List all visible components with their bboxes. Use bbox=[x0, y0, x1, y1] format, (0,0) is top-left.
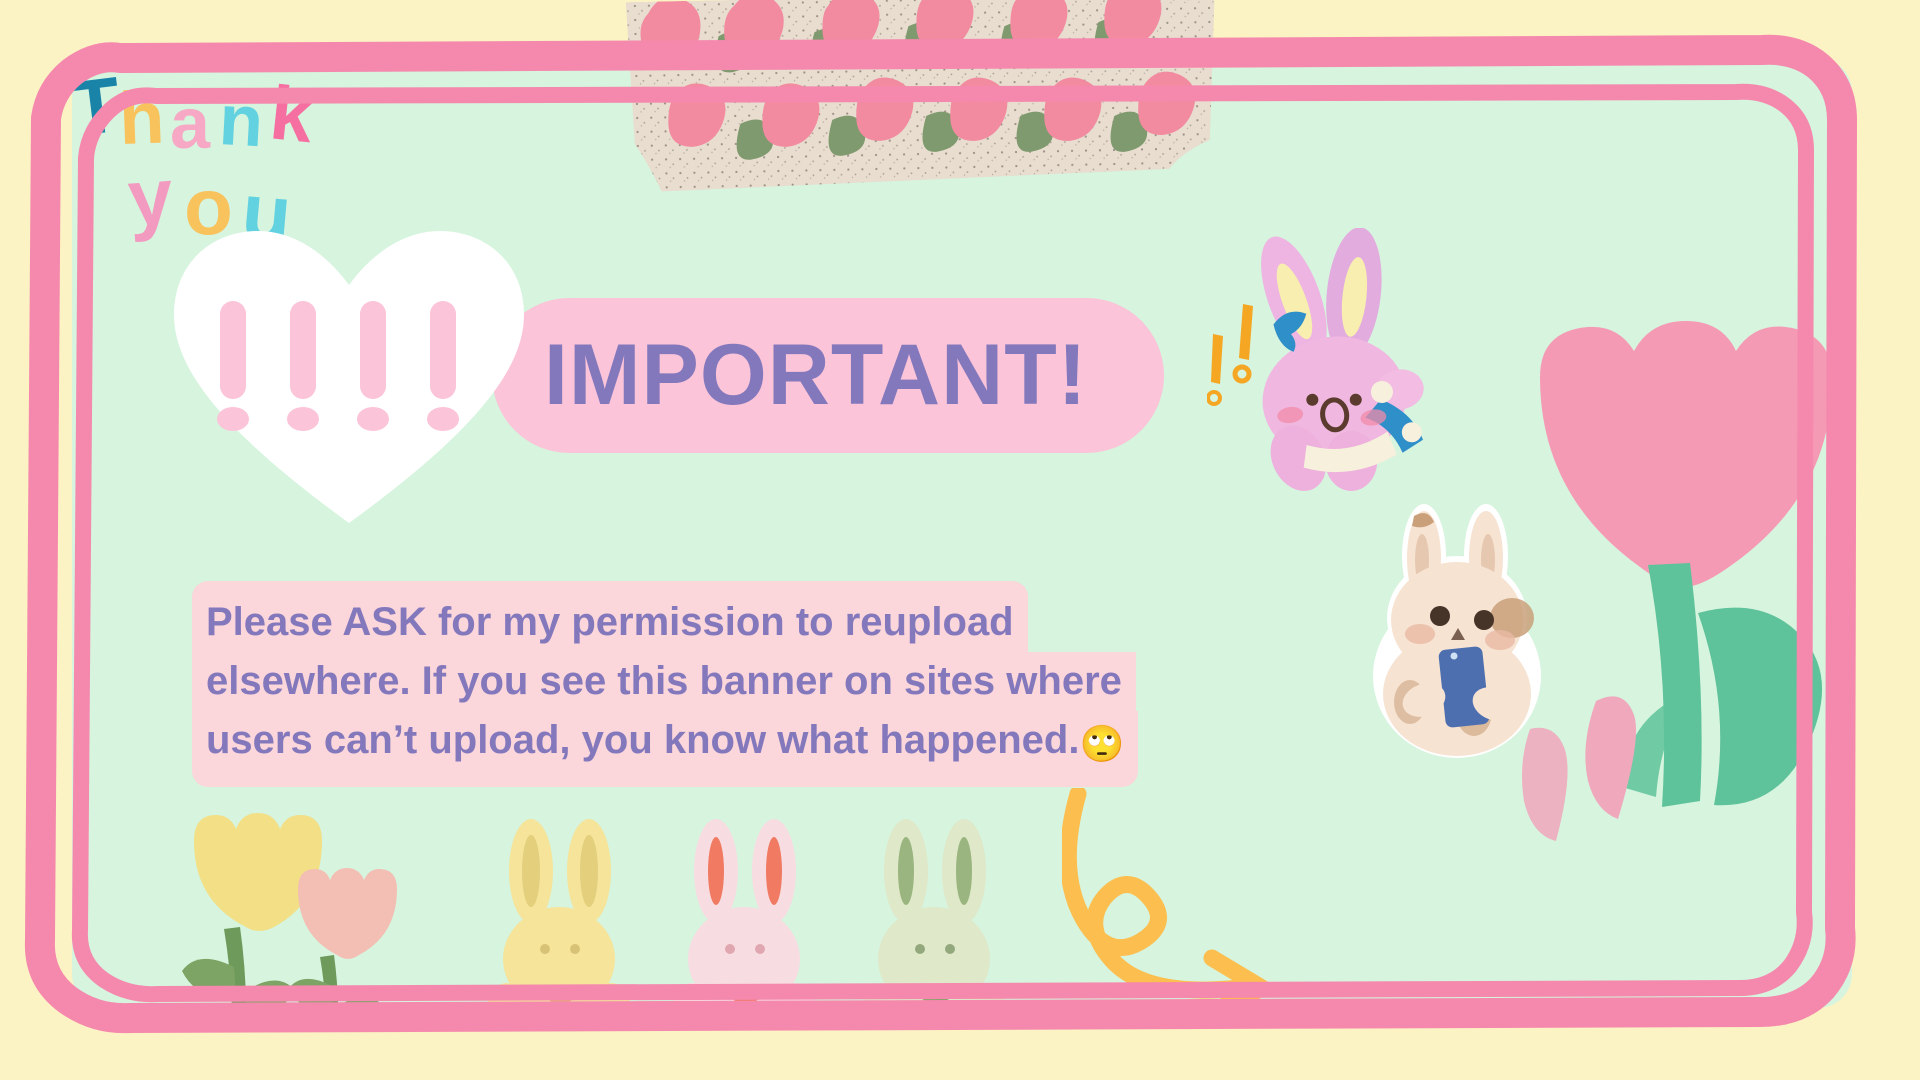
orange-swirl-arrow-icon bbox=[1062, 788, 1342, 1008]
pink-bunny-cookie-icon bbox=[672, 813, 817, 1008]
body-line-3-text: users can’t upload, you know what happen… bbox=[206, 718, 1079, 762]
page-title: IMPORTANT! bbox=[544, 326, 1184, 425]
yellow-bunny-cookie-icon bbox=[487, 813, 632, 1008]
tulip-washi-tape bbox=[618, 0, 1227, 217]
thankyou-letter-y: y bbox=[125, 151, 176, 243]
thankyou-letter-T: T bbox=[72, 60, 125, 153]
thankyou-letter-h: h bbox=[118, 75, 166, 160]
big-pink-tulip-icon bbox=[1512, 313, 1852, 893]
thankyou-letter-n: n bbox=[217, 80, 265, 162]
thankyou-letter-k: k bbox=[266, 70, 318, 159]
green-bunny-cookie-icon bbox=[862, 813, 1007, 1008]
banner-stage: IMPORTANT! bbox=[0, 0, 1920, 1080]
eye-roll-emoji: 🙄 bbox=[1079, 723, 1124, 764]
body-line-2: elsewhere. If you see this banner on sit… bbox=[192, 652, 1136, 711]
small-tulips-icon bbox=[172, 803, 412, 1008]
body-text-block: Please ASK for my permission to reupload… bbox=[192, 581, 1252, 787]
thankyou-letter-a: a bbox=[170, 84, 211, 164]
cream-bunny-with-phone-sticker bbox=[1362, 498, 1552, 768]
body-line-1: Please ASK for my permission to reupload bbox=[192, 581, 1028, 652]
body-line-3: users can’t upload, you know what happen… bbox=[192, 711, 1138, 787]
heart-icon bbox=[172, 223, 527, 528]
pink-bunny-sticker bbox=[1227, 228, 1477, 518]
